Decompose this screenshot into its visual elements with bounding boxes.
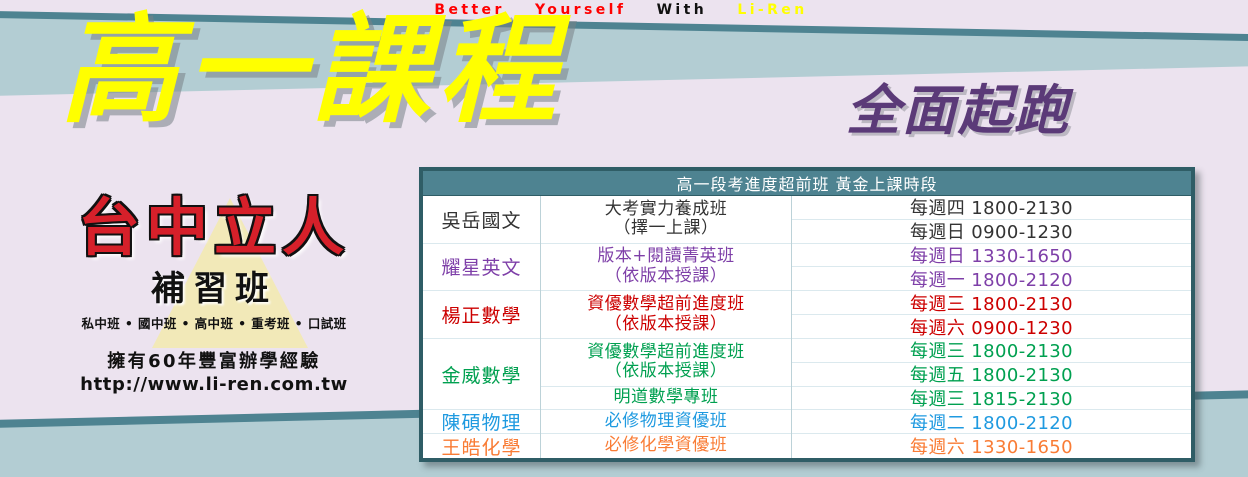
schedule-column-course: 大考實力養成班（擇一上課）版本+閱讀菁英班（依版本授課）資優數學超前進度班（依版… <box>541 196 792 458</box>
schedule-course-cell: 大考實力養成班（擇一上課） <box>541 196 791 244</box>
schedule-teacher-cell: 吳岳國文 <box>423 196 540 244</box>
schedule-teacher-cell: 陳碩物理 <box>423 410 540 434</box>
schedule-column-time: 每週四 1800-2130每週日 0900-1230每週日 1330-1650每… <box>792 196 1191 458</box>
schedule-course-cell: 資優數學超前進度班（依版本授課） <box>541 339 791 387</box>
schedule-course-cell: 版本+閱讀菁英班（依版本授課） <box>541 244 791 292</box>
schedule-time-cell: 每週三 1815-2130 <box>792 387 1191 411</box>
page-title: 高一課程 <box>60 8 564 132</box>
schedule-time-cell: 每週二 1800-2120 <box>792 410 1191 434</box>
logo-school-name: 台中立人 <box>34 196 394 259</box>
logo-website-url[interactable]: http://www.li-ren.com.tw <box>34 374 394 395</box>
schedule-table-header: 高一段考進度超前班 黃金上課時段 <box>423 171 1191 196</box>
logo-experience: 擁有60年豐富辦學經驗 <box>34 347 394 373</box>
schedule-teacher-cell: 金威數學 <box>423 339 540 410</box>
schedule-table-body: 吳岳國文耀星英文楊正數學金威數學陳碩物理王皓化學 大考實力養成班（擇一上課）版本… <box>423 196 1191 458</box>
schedule-teacher-cell: 耀星英文 <box>423 244 540 292</box>
schedule-time-cell: 每週日 0900-1230 <box>792 220 1191 244</box>
schedule-table: 高一段考進度超前班 黃金上課時段 吳岳國文耀星英文楊正數學金威數學陳碩物理王皓化… <box>419 167 1195 462</box>
page-subtitle: 全面起跑 <box>846 66 1070 145</box>
schedule-teacher-cell: 楊正數學 <box>423 291 540 339</box>
schedule-course-cell: 明道數學專班 <box>541 387 791 411</box>
schedule-course-cell: 資優數學超前進度班（依版本授課） <box>541 291 791 339</box>
slogan-banner: Better Yourself With Li-Ren <box>0 2 1248 18</box>
logo: 台中立人 補習班 私中班 • 國中班 • 高中班 • 重考班 • 口試班 擁有6… <box>34 196 394 395</box>
slogan-word-liren: Li-Ren <box>737 2 807 18</box>
slogan-word-better: Better <box>434 2 504 18</box>
schedule-teacher-cell: 王皓化學 <box>423 434 540 458</box>
logo-class-list: 私中班 • 國中班 • 高中班 • 重考班 • 口試班 <box>34 313 394 332</box>
schedule-time-cell: 每週三 1800-2130 <box>792 339 1191 363</box>
schedule-time-cell: 每週五 1800-2130 <box>792 363 1191 387</box>
schedule-course-cell: 必修物理資優班 <box>541 410 791 434</box>
schedule-time-cell: 每週日 1330-1650 <box>792 244 1191 268</box>
schedule-time-cell: 每週六 1330-1650 <box>792 434 1191 458</box>
schedule-course-cell: 必修化學資優班 <box>541 434 791 458</box>
schedule-time-cell: 每週六 0900-1230 <box>792 315 1191 339</box>
schedule-time-cell: 每週四 1800-2130 <box>792 196 1191 220</box>
slogan-word-with: With <box>657 2 708 18</box>
schedule-time-cell: 每週三 1800-2130 <box>792 291 1191 315</box>
schedule-time-cell: 每週一 1800-2120 <box>792 267 1191 291</box>
schedule-column-teacher: 吳岳國文耀星英文楊正數學金威數學陳碩物理王皓化學 <box>423 196 541 458</box>
slogan-word-yourself: Yourself <box>535 2 626 18</box>
logo-school-type: 補習班 <box>34 261 394 310</box>
